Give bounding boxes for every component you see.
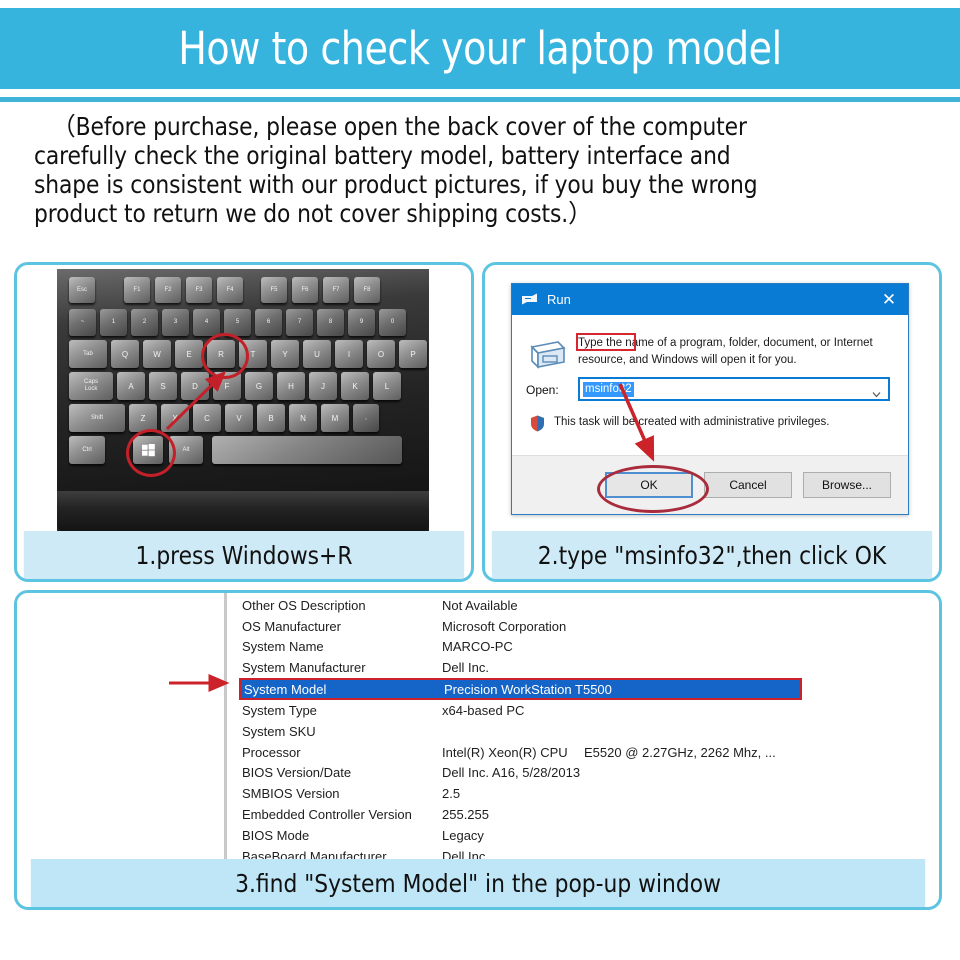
key-ctrl-left: Ctrl <box>69 436 105 464</box>
run-dialog-content: Type the name of a program, folder, docu… <box>512 315 908 455</box>
sysinfo-item-value: 255.255 <box>442 807 929 822</box>
browse-button[interactable]: Browse... <box>803 472 891 498</box>
key-b: B <box>257 404 285 432</box>
sysinfo-item-value: MARCO-PC <box>442 639 929 654</box>
key-x: X <box>161 404 189 432</box>
sysinfo-row[interactable]: BaseBoard ManufacturerDell Inc. <box>239 846 929 859</box>
key-caps-lock: CapsLock <box>69 372 113 400</box>
key-f4: F4 <box>217 277 243 303</box>
key-w: W <box>143 340 171 368</box>
key-6: 6 <box>255 309 282 336</box>
sysinfo-item-name: Other OS Description <box>239 598 442 613</box>
key-e: E <box>175 340 203 368</box>
open-field-label: Open: <box>526 383 559 397</box>
key-3: 3 <box>162 309 189 336</box>
cancel-button[interactable]: Cancel <box>704 472 792 498</box>
key-backtick: ~ <box>69 309 96 336</box>
run-dialog-footer: OK Cancel Browse... <box>512 455 908 514</box>
sysinfo-row[interactable]: Embedded Controller Version255.255 <box>239 804 929 825</box>
key-1: 1 <box>100 309 127 336</box>
step-1-panel: Esc F1 F2 F3 F4 F5 F6 F7 F8 ~ 1 2 3 4 5 … <box>14 262 474 582</box>
sysinfo-item-value-extra: E5520 @ 2.27GHz, 2262 Mhz, ... <box>584 745 776 760</box>
key-l: L <box>373 372 401 400</box>
key-s: S <box>149 372 177 400</box>
system-model-annotation-arrow <box>167 671 237 695</box>
sysinfo-item-name: Processor <box>239 745 442 760</box>
sysinfo-item-name: System Type <box>239 703 442 718</box>
sysinfo-row[interactable]: SMBIOS Version2.5 <box>239 783 929 804</box>
key-f7: F7 <box>323 277 349 303</box>
key-8: 8 <box>317 309 344 336</box>
keyboard-photo: Esc F1 F2 F3 F4 F5 F6 F7 F8 ~ 1 2 3 4 5 … <box>57 269 429 531</box>
ok-button-highlight-ellipse <box>597 465 709 513</box>
keyboard-front-edge <box>57 491 429 531</box>
sysinfo-item-name: Embedded Controller Version <box>239 807 442 822</box>
sysinfo-item-name: System SKU <box>239 724 442 739</box>
step-3-caption: 3.find "System Model" in the pop-up wind… <box>31 859 925 907</box>
key-p: P <box>399 340 427 368</box>
sysinfo-pane-divider <box>224 593 227 859</box>
key-m: M <box>321 404 349 432</box>
step-3-panel: Other OS DescriptionNot AvailableOS Manu… <box>14 590 942 910</box>
step-2-panel: Run ✕ Type the name of a program, folder… <box>482 262 942 582</box>
sysinfo-item-name: OS Manufacturer <box>239 619 442 634</box>
sysinfo-item-value: Not Available <box>442 598 929 613</box>
sysinfo-item-value: x64-based PC <box>442 703 929 718</box>
sysinfo-item-name: BIOS Version/Date <box>239 765 442 780</box>
key-comma: , <box>353 404 379 432</box>
sysinfo-item-name: System Name <box>239 639 442 654</box>
key-g: G <box>245 372 273 400</box>
sysinfo-row[interactable]: System NameMARCO-PC <box>239 637 929 658</box>
sysinfo-row[interactable]: System SKU <box>239 721 929 742</box>
key-9: 9 <box>348 309 375 336</box>
key-y: Y <box>271 340 299 368</box>
sysinfo-item-value: Microsoft Corporation <box>442 619 929 634</box>
run-dialog-title: Run <box>547 292 571 307</box>
sysinfo-item-value: Dell Inc. A16, 5/28/2013 <box>442 765 929 780</box>
sysinfo-row[interactable]: ProcessorIntel(R) Xeon(R) CPUE5520 @ 2.2… <box>239 742 929 763</box>
intro-line-2: carefully check the original battery mod… <box>34 141 907 170</box>
key-j: J <box>309 372 337 400</box>
key-space <box>212 436 402 464</box>
key-a: A <box>117 372 145 400</box>
key-d: D <box>181 372 209 400</box>
key-f5: F5 <box>261 277 287 303</box>
key-2: 2 <box>131 309 158 336</box>
intro-paragraph: （Before purchase, please open the back c… <box>34 112 907 228</box>
intro-line-4: product to return we do not cover shippi… <box>34 199 907 228</box>
sysinfo-row[interactable]: BIOS Version/DateDell Inc. A16, 5/28/201… <box>239 763 929 784</box>
key-f2: F2 <box>155 277 181 303</box>
sysinfo-row[interactable]: System Typex64-based PC <box>239 700 929 721</box>
page-header: How to check your laptop model <box>0 8 960 89</box>
intro-line-3: shape is consistent with our product pic… <box>34 170 907 199</box>
key-z: Z <box>129 404 157 432</box>
sysinfo-item-name: BaseBoard Manufacturer <box>239 849 442 859</box>
key-c: C <box>193 404 221 432</box>
sysinfo-item-name: SMBIOS Version <box>239 786 442 801</box>
sysinfo-item-value: Dell Inc. <box>442 849 929 859</box>
r-key-highlight-circle <box>201 333 249 379</box>
windows-key-highlight-circle <box>126 429 176 477</box>
intro-line-1: （Before purchase, please open the back c… <box>34 112 907 141</box>
run-app-icon <box>528 339 568 371</box>
key-u: U <box>303 340 331 368</box>
sysinfo-row-highlighted[interactable]: System ModelPrecision WorkStation T5500 <box>239 678 802 700</box>
key-esc: Esc <box>69 277 95 303</box>
run-dialog-window: Run ✕ Type the name of a program, folder… <box>511 283 909 515</box>
sysinfo-item-name: System Manufacturer <box>239 660 442 675</box>
key-n: N <box>289 404 317 432</box>
key-q: Q <box>111 340 139 368</box>
key-k: K <box>341 372 369 400</box>
chevron-down-icon[interactable] <box>872 386 881 395</box>
close-icon[interactable]: ✕ <box>878 289 900 311</box>
key-f8: F8 <box>354 277 380 303</box>
open-input-value: msinfo32 <box>583 382 634 397</box>
key-tab: Tab <box>69 340 107 368</box>
admin-privileges-note: This task will be created with administr… <box>554 416 829 428</box>
run-window-icon <box>521 293 539 306</box>
key-7: 7 <box>286 309 313 336</box>
sysinfo-item-value: Dell Inc. <box>442 660 929 675</box>
open-input-field[interactable]: msinfo32 <box>578 377 890 401</box>
sysinfo-row[interactable]: OS ManufacturerMicrosoft Corporation <box>239 616 929 637</box>
sysinfo-item-value: Legacy <box>442 828 929 843</box>
sysinfo-item-value: 2.5 <box>442 786 929 801</box>
step-1-caption: 1.press Windows+R <box>24 531 464 579</box>
description-highlight-box <box>576 333 636 351</box>
system-information-window: Other OS DescriptionNot AvailableOS Manu… <box>17 593 939 859</box>
step-3-image-area: Other OS DescriptionNot AvailableOS Manu… <box>17 593 939 859</box>
uac-shield-icon <box>530 415 545 432</box>
step-1-image-area: Esc F1 F2 F3 F4 F5 F6 F7 F8 ~ 1 2 3 4 5 … <box>17 265 471 531</box>
sysinfo-item-name: System Model <box>241 682 444 697</box>
sysinfo-row[interactable]: Other OS DescriptionNot Available <box>239 595 929 616</box>
run-dialog-titlebar: Run ✕ <box>512 284 908 315</box>
system-information-table: Other OS DescriptionNot AvailableOS Manu… <box>239 595 929 859</box>
key-o: O <box>367 340 395 368</box>
key-f1: F1 <box>124 277 150 303</box>
key-shift-left: Shift <box>69 404 125 432</box>
key-h: H <box>277 372 305 400</box>
sysinfo-item-name: BIOS Mode <box>239 828 442 843</box>
sysinfo-row[interactable]: System ManufacturerDell Inc. <box>239 657 929 678</box>
sysinfo-item-value: Precision WorkStation T5500 <box>444 682 800 697</box>
key-4: 4 <box>193 309 220 336</box>
step-2-caption: 2.type "msinfo32",then click OK <box>492 531 932 579</box>
header-divider-rule <box>0 97 960 102</box>
key-0: 0 <box>379 309 406 336</box>
page-title: How to check your laptop model <box>178 22 781 75</box>
step-2-image-area: Run ✕ Type the name of a program, folder… <box>485 265 939 531</box>
sysinfo-row[interactable]: BIOS ModeLegacy <box>239 825 929 846</box>
key-i: I <box>335 340 363 368</box>
key-f3: F3 <box>186 277 212 303</box>
key-5: 5 <box>224 309 251 336</box>
key-f6: F6 <box>292 277 318 303</box>
key-v: V <box>225 404 253 432</box>
